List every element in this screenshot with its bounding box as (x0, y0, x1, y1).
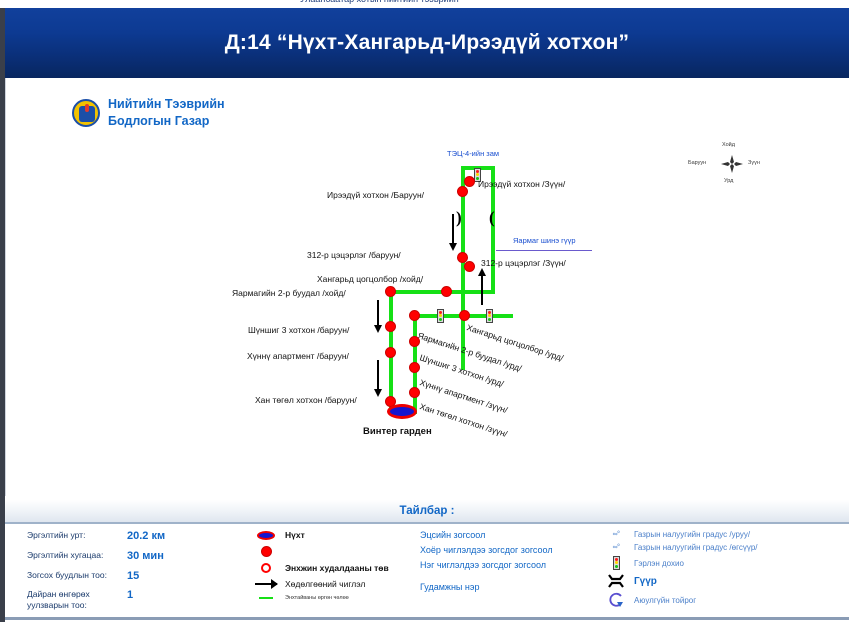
annotation-tec4-road: ТЭЦ-4-ийн зам (447, 149, 499, 158)
traffic-light-icon (605, 556, 627, 570)
stop-label-khantogol-west: Хан төгөл хотхон /баруун/ (255, 395, 357, 405)
stop-label-312-east: 312-р цэцэрлэг /Зүүн/ (481, 258, 566, 268)
stat-key: Дайран өнгөрөх уулзварын тоо: (27, 589, 127, 610)
stat-value: 15 (127, 570, 139, 584)
stop-dot-hangard-north[interactable] (441, 286, 452, 297)
direction-arrow-down-mid (377, 300, 379, 326)
legend-label-unidirectional-stop: Нэг чиглэлдээ зогсдог зогсоол (420, 560, 600, 570)
stop-dot-hunnu-west[interactable] (385, 347, 396, 358)
degree-glyph: ∞° (613, 544, 620, 551)
terminus-label: Винтер гарден (363, 426, 432, 437)
legend-label: Газрын налуугийн градус /өгсүүр/ (634, 543, 757, 552)
legend-item-slope-down: ∞° Газрын налуугийн градус /уруу/ (605, 530, 845, 539)
stop-dot-hunnu-east[interactable] (409, 362, 420, 373)
annotation-yarmag-bridge-underline (496, 250, 592, 251)
stat-value: 20.2 км (127, 530, 165, 544)
legend-label: Гүүр (634, 576, 657, 587)
shopping-center-circle-icon (255, 563, 277, 573)
bridge-icon (605, 574, 627, 588)
stop-label-ireedui-west: Ирээдүй хотхон /Баруун/ (327, 190, 424, 200)
stat-row: Эргэлтийн урт: 20.2 км (27, 530, 217, 544)
legend-label-street-name: Гудамжны нэр (420, 582, 600, 592)
legend-body: Эргэлтийн урт: 20.2 км Эргэлтийн хугацаа… (5, 526, 849, 620)
stop-label-ireedui-east: Ирээдүй хотхон /Зүүн/ (478, 179, 565, 189)
stop-dot-hangard-south[interactable] (459, 310, 470, 321)
legend-item-street-line: Энхтайваны өргөн чөлөө (255, 595, 415, 601)
direction-arrow-down-upper (452, 214, 454, 244)
legend-stats-column: Эргэлтийн урт: 20.2 км Эргэлтийн хугацаа… (27, 530, 217, 617)
stop-dot-yarmag2-south[interactable] (409, 310, 420, 321)
traffic-light-icon-yarmag (437, 309, 444, 323)
stop-dot-khantogol-east[interactable] (409, 387, 420, 398)
legend-stoptypes-column: Эцсийн зогсоол Хоёр чиглэлдээ зогсдог зо… (420, 530, 600, 597)
stop-label-yarmag2-north: Яармагийн 2-р буудал /хойд/ (232, 288, 346, 298)
direction-arrow-icon (255, 583, 277, 585)
green-line-icon (255, 597, 277, 599)
bridge-bracket-left-icon: ) (456, 209, 462, 226)
stop-dot-312-east[interactable] (464, 261, 475, 272)
stop-label-shunshig3-west: Шүншиг 3 хотхон /баруун/ (248, 325, 349, 335)
stat-row: Эргэлтийн хугацаа: 30 мин (27, 550, 217, 564)
stat-value: 1 (127, 589, 133, 610)
stat-row: Дайран өнгөрөх уулзварын тоо: 1 (27, 589, 217, 610)
direction-arrow-down-lower (377, 360, 379, 390)
stop-label-hangard-north: Хангарьд цогцолбор /хойд/ (317, 274, 423, 284)
stop-label-hunnu-west: Хүннү апартмент /баруун/ (247, 351, 349, 361)
degree-down-icon: ∞° (605, 544, 627, 551)
legend-label-final-stop: Эцсийн зогсоол (420, 530, 600, 540)
bus-stop-dot-icon (255, 546, 277, 557)
legend-label: Нүхт (285, 530, 305, 540)
stop-dot-shunshig3-west[interactable] (385, 321, 396, 332)
route-diagram: ТЭЦ-4-ийн зам Яармаг шинэ гүүр ) ( Ирээд… (0, 0, 844, 418)
legend-title: Тайлбар : (400, 505, 455, 517)
annotation-yarmag-bridge: Яармаг шинэ гүүр (513, 236, 576, 245)
legend-label: Хөдөлгөөний чиглэл (285, 579, 365, 589)
legend-item-roundabout: Аюулгүйн тойрог (605, 592, 845, 608)
legend-item-direction: Хөдөлгөөний чиглэл (255, 579, 415, 589)
bridge-bracket-right-icon: ( (489, 209, 495, 226)
stat-key: Эргэлтийн хугацаа: (27, 550, 127, 564)
bottom-rail (0, 622, 849, 626)
roundabout-icon (605, 592, 627, 608)
stat-row: Зогсох буудлын тоо: 15 (27, 570, 217, 584)
legend-label-bidirectional-stop: Хоёр чиглэлдээ зогсдог зогсоол (420, 545, 600, 555)
legend-item-bus-stop (255, 546, 415, 557)
legend-label: Газрын налуугийн градус /уруу/ (634, 530, 750, 539)
stop-dot-yarmag2-north[interactable] (385, 286, 396, 297)
stat-key: Эргэлтийн урт: (27, 530, 127, 544)
route-map-page: Улаанбаатар хотын нийтийн тээврийн Д:14 … (0, 0, 849, 626)
stat-value: 30 мин (127, 550, 164, 564)
stop-dot-ireedui-east[interactable] (464, 176, 475, 187)
terminus-oval-icon (255, 531, 277, 540)
legend-label: Аюулгүйн тойрог (634, 596, 696, 605)
legend-label: Гэрлэн дохио (634, 559, 684, 568)
legend-symbols-column: Нүхт Энхжин худалдааны төв Хөдөлгөөний ч… (255, 530, 415, 607)
legend-label: Энхжин худалдааны төв (285, 563, 389, 573)
direction-arrow-up-right (481, 275, 483, 305)
legend-item-shopping-center: Энхжин худалдааны төв (255, 563, 415, 573)
legend-roadfeatures-column: ∞° Газрын налуугийн градус /уруу/ ∞° Газ… (605, 530, 845, 612)
legend-label: Энхтайваны өргөн чөлөө (285, 595, 349, 601)
traffic-light-icon-hangard (486, 309, 493, 323)
stop-dot-shunshig3-south[interactable] (409, 336, 420, 347)
degree-up-icon: ∞° (605, 531, 627, 538)
legend-item-slope-up: ∞° Газрын налуугийн градус /өгсүүр/ (605, 543, 845, 552)
stat-key: Зогсох буудлын тоо: (27, 570, 127, 584)
legend-header-bar: Тайлбар : (5, 500, 849, 524)
terminus-oval-icon[interactable] (387, 404, 417, 419)
legend-item-traffic-light: Гэрлэн дохио (605, 556, 845, 570)
stop-label-312-west: 312-р цэцэрлэг /баруун/ (307, 250, 401, 260)
stop-dot-ireedui-west[interactable] (457, 186, 468, 197)
legend-panel: Тайлбар : Эргэлтийн урт: 20.2 км Эргэлти… (5, 500, 849, 626)
legend-item-bridge: Гүүр (605, 574, 845, 588)
degree-glyph: ∞° (613, 531, 620, 538)
legend-item-terminus: Нүхт (255, 530, 415, 540)
